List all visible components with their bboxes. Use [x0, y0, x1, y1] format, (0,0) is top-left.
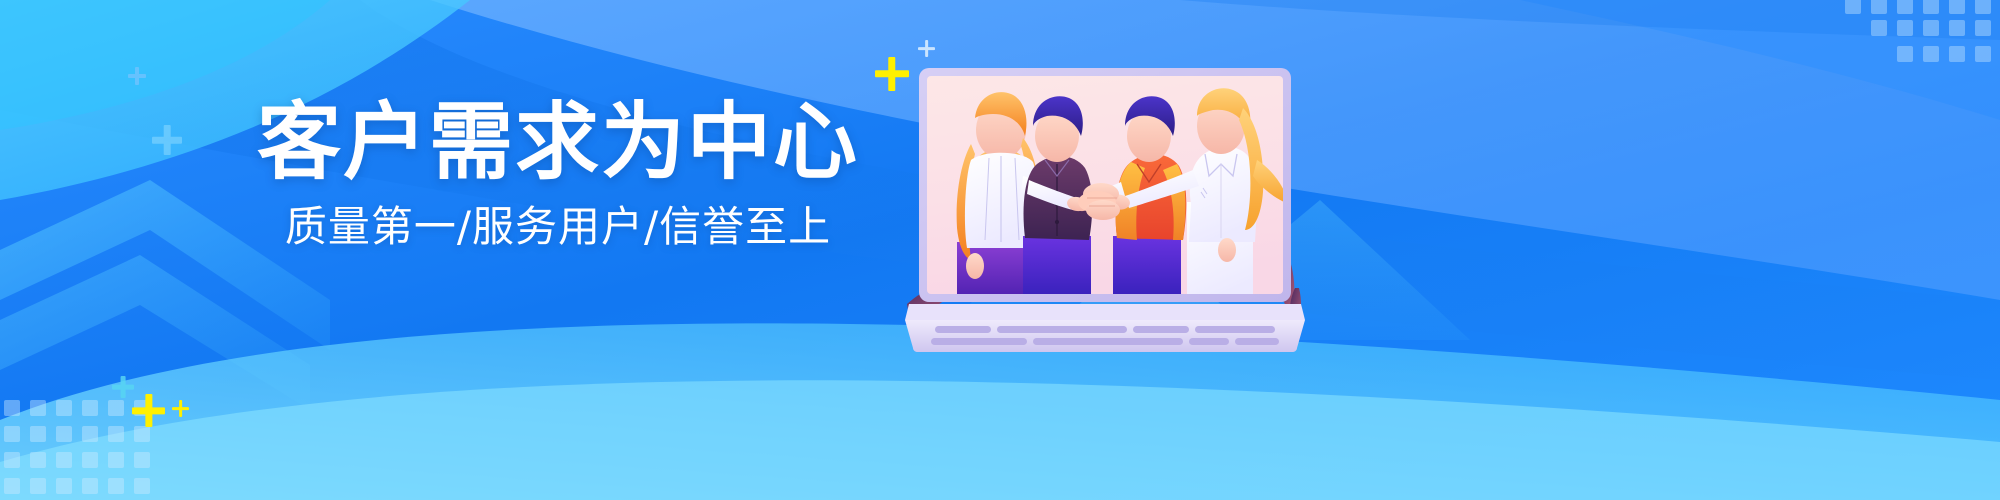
laptop-with-team-photo [905, 52, 1305, 352]
cross-yellow-small-icon [172, 400, 189, 417]
cross-yellow-hero-icon [875, 57, 909, 91]
page-subtitle: 质量第一/服务用户/信誉至上 [248, 206, 868, 248]
dot-grid-bottom-left [4, 400, 150, 494]
cross-yellow-large-icon [132, 394, 165, 427]
page-title: 客户需求为中心 [248, 100, 868, 184]
headline-block: 客户需求为中心 质量第一/服务用户/信誉至上 [248, 100, 868, 248]
cross-medium-left-icon [152, 125, 182, 155]
cross-cyan-bottom-left-icon [112, 376, 134, 398]
dot-grid-top-right [1845, 0, 1991, 62]
cross-small-top-left-icon [128, 67, 146, 85]
promotional-banner: 客户需求为中心 质量第一/服务用户/信誉至上 [0, 0, 2000, 500]
laptop-base [905, 320, 1305, 352]
laptop-hinge [905, 304, 1305, 320]
